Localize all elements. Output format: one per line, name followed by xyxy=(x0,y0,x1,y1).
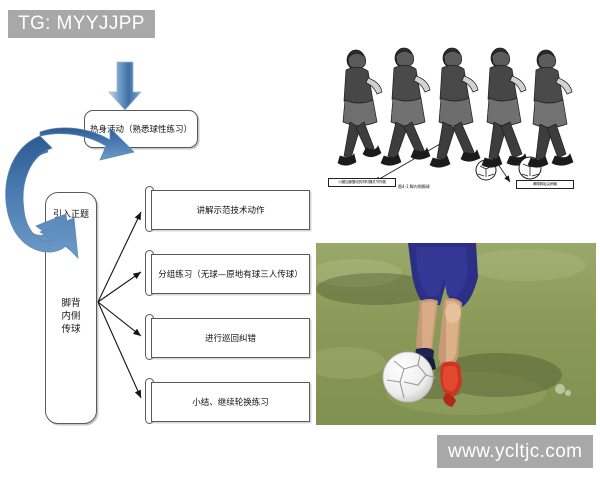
flow-node-main-topic-subject: 脚背内侧传球 xyxy=(58,297,84,336)
flow-node-main-topic[interactable]: 引入正题 脚背内侧传球 xyxy=(45,192,97,424)
illustration-figure-caption: 图4-1 脚内侧踢球 xyxy=(398,184,430,190)
step-label: 分组练习（无球—原地有球三人传球） xyxy=(151,254,310,294)
step-label: 讲解示范技术动作 xyxy=(151,190,310,230)
tg-watermark-badge: TG: MYYJJPP xyxy=(8,10,155,38)
flow-step-box[interactable]: 讲解示范技术动作 xyxy=(145,190,310,230)
flow-step-box[interactable]: 进行巡回纠错 xyxy=(145,318,310,358)
flow-node-main-topic-label: 引入正题 xyxy=(53,209,89,221)
step-label: 小结、继续轮换练习 xyxy=(151,382,310,422)
illustration-note-left: 小腿加速摆动的同时踝关节外展 xyxy=(328,178,396,187)
flow-step-box[interactable]: 小结、继续轮换练习 xyxy=(145,382,310,422)
flow-step-box[interactable]: 分组练习（无球—原地有球三人传球） xyxy=(145,254,310,294)
illustration-note-right: 踢球脚足尖稍翘 xyxy=(516,180,574,189)
flowchart: 热身活动（熟悉球性练习） 引入正题 脚背内侧传球 讲解示范技术动作 分组练习（无… xyxy=(0,0,320,480)
site-watermark-text: www.ycltjc.com xyxy=(448,441,582,463)
screenshot-root: 热身活动（熟悉球性练习） 引入正题 脚背内侧传球 讲解示范技术动作 分组练习（无… xyxy=(0,0,600,480)
tg-watermark-text: TG: MYYJJPP xyxy=(18,13,145,35)
training-photo xyxy=(316,243,596,425)
flow-node-warmup-label: 热身活动（熟悉球性练习） xyxy=(90,123,192,135)
site-watermark-badge: www.ycltjc.com xyxy=(437,435,593,468)
step-label: 进行巡回纠错 xyxy=(151,318,310,358)
flow-node-warmup[interactable]: 热身活动（熟悉球性练习） xyxy=(84,110,198,148)
technique-illustration: 小腿加速摆动的同时踝关节外展 图4-1 脚内侧踢球 踢球脚足尖稍翘 xyxy=(322,32,580,212)
photo-content xyxy=(316,243,596,425)
